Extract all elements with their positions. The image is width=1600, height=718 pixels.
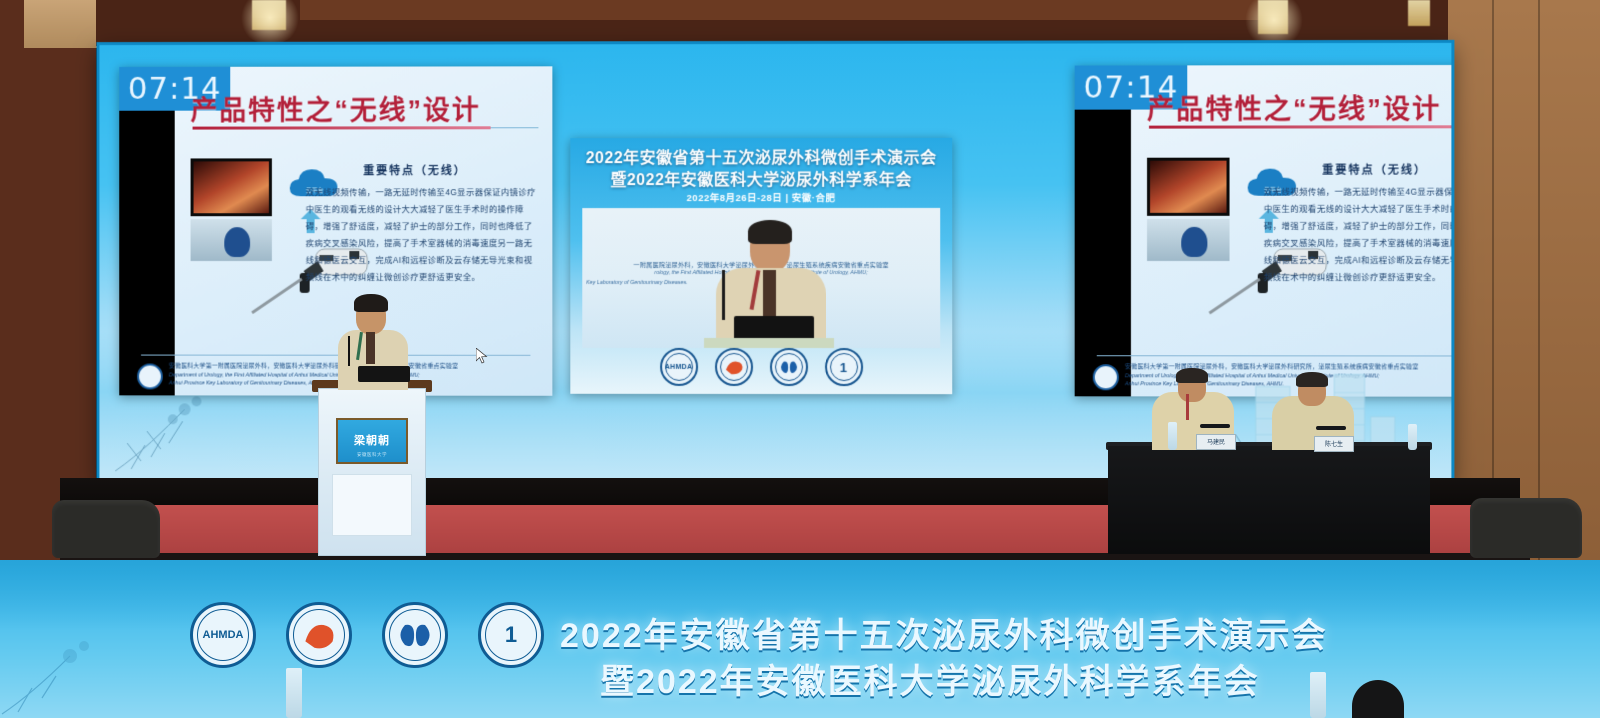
- water-bottle-1: [1168, 422, 1177, 450]
- banner-logo-ahmda-label: AHMDA: [193, 605, 253, 665]
- banner-title-line1: 2022年安徽省第十五次泌尿外科微创手术演示会: [560, 608, 1328, 657]
- left-slide-title: 产品特性之“无线”设计: [191, 88, 481, 127]
- stage-monitor-right: [1470, 498, 1582, 558]
- podium-plate-sub: 安徽医科大学: [338, 452, 406, 458]
- right-title-rule: [1149, 125, 1451, 128]
- water-bottle-2: [1408, 424, 1417, 450]
- panelist-2-nameplate: 陈七生: [1314, 436, 1354, 452]
- banner-logo-hospital-mark: 1: [481, 605, 541, 665]
- banner-logo-urology-institute: [382, 602, 448, 668]
- logo-first-hospital: 1: [825, 348, 863, 386]
- banner-kidney-glyph: [385, 605, 445, 665]
- wall-seam-1: [1492, 0, 1494, 560]
- live-video-feed: 一附属医院泌尿外科，安徽医科大学泌尿外科研究所，泌尿生殖系统疾病安徽省重点实验室…: [582, 208, 940, 348]
- audience-head-right: [1352, 680, 1404, 718]
- kidney-glyph: [772, 350, 806, 384]
- center-date-line: 2022年8月26日-28日 | 安徽·合肥: [570, 190, 952, 204]
- left-title-rule: [193, 126, 491, 129]
- banner-logo-row: AHMDA 1: [190, 602, 544, 668]
- banner-logo-first-hospital: 1: [478, 602, 544, 668]
- logo-ahmda: AHMDA: [660, 348, 698, 386]
- panel-microphone-1: [1200, 424, 1230, 428]
- right-slide-paragraph: 双无线视频传输，一路无延时传输至4G显示器保证内镜诊疗中医生的观看无线的设计大大…: [1264, 184, 1452, 287]
- wall-right-wood: [1448, 0, 1600, 560]
- wall-ceiling-panel: [300, 0, 1260, 20]
- banner-bottle-left: [286, 668, 302, 718]
- logo-hospital-mark: 1: [827, 350, 861, 384]
- podium-speaker-name: 梁朝朝: [338, 432, 406, 448]
- left-presentation-screen: 07:14 产品特性之“无线”设计 云平台: [119, 66, 552, 395]
- main-led-wall: 07:14 产品特性之“无线”设计 云平台: [99, 43, 1451, 483]
- endoscopic-image: [1147, 158, 1230, 216]
- center-presentation-screen: 2022年安徽省第十五次泌尿外科微创手术演示会 暨2022年安徽医科大学泌尿外科…: [570, 138, 952, 394]
- panel-table: [1108, 446, 1430, 554]
- endoscopic-image: [191, 158, 272, 216]
- podium-nameplate: 梁朝朝 安徽医科大学: [336, 418, 408, 464]
- panelist-2-hair: [1296, 372, 1328, 387]
- banner-logo-ahmda: AHMDA: [190, 602, 256, 668]
- conference-hall-scene: 07:14 产品特性之“无线”设计 云平台: [0, 0, 1600, 718]
- left-slide-paragraph: 双无线视频传输，一路无延时传输至4G显示器保证内镜诊疗中医生的观看无线的设计大大…: [306, 184, 541, 286]
- podium-lower-panel: [332, 474, 412, 536]
- right-slide-subhead: 重要特点（无线）: [1322, 162, 1427, 178]
- footer-cn-text: 安徽医科大学第一附属医院泌尿外科，安徽医科大学泌尿外科研究所，泌尿生殖系统疾病安…: [169, 363, 497, 372]
- left-slide-subhead: 重要特点（无线）: [363, 162, 466, 178]
- banner-pine-graphic: [0, 628, 150, 718]
- right-presentation-screen: 07:14 产品特性之“无线”设计 云平台: [1075, 65, 1452, 397]
- panelist-1-hair: [1176, 368, 1208, 383]
- right-slide-title: 产品特性之“无线”设计: [1147, 87, 1441, 126]
- podium-microphone: [348, 336, 350, 366]
- logo-ahmda-label: AHMDA: [662, 350, 696, 384]
- right-footer-logo: [1093, 364, 1119, 390]
- right-screen-black-edge: [1075, 110, 1131, 397]
- banner-title-line2: 暨2022年安徽医科大学泌尿外科学系年会: [600, 654, 1260, 703]
- left-title-rule-thin: [491, 127, 539, 128]
- left-screen-black-edge: [119, 111, 174, 396]
- banner-bottle-right: [1310, 672, 1326, 718]
- live-speaker-hair: [354, 294, 388, 312]
- podium-laptop: [358, 366, 410, 382]
- wall-seam-2: [1538, 0, 1540, 560]
- banner-logo-medical-association: [286, 602, 352, 668]
- panelist-1-nameplate: 马建民: [1196, 434, 1236, 450]
- stage-monitor-left: [52, 500, 160, 558]
- wall-wood-left: [24, 0, 98, 48]
- center-title-line1: 2022年安徽省第十五次泌尿外科微创手术演示会: [570, 144, 952, 168]
- left-footer-logo: [137, 364, 163, 390]
- panel-microphone-2: [1316, 426, 1346, 430]
- video-podium: [704, 338, 834, 348]
- video-microphone: [722, 270, 725, 320]
- mouse-cursor: [476, 348, 488, 364]
- video-speaker-tie: [763, 270, 776, 316]
- logo-medical-association: [715, 348, 753, 386]
- chandelier-far-right: [1408, 0, 1430, 26]
- bottom-stage-banner: AHMDA 1 2022年安徽省第十五次泌尿外科微创手术演示会 暨: [0, 560, 1600, 718]
- live-speaker-tie: [366, 332, 375, 364]
- panelist-1-lanyard: [1186, 394, 1189, 420]
- center-logo-row: AHMDA 1: [570, 348, 952, 386]
- center-title-line2: 暨2022年安徽医科大学泌尿外科学系年会: [570, 166, 952, 190]
- video-speaker-hair: [748, 220, 792, 244]
- china-map-glyph: [717, 350, 751, 384]
- wall-left-dark: [0, 0, 96, 560]
- banner-china-map-glyph: [289, 605, 349, 665]
- logo-urology-institute: [770, 348, 808, 386]
- pine-branch-left: [111, 383, 260, 475]
